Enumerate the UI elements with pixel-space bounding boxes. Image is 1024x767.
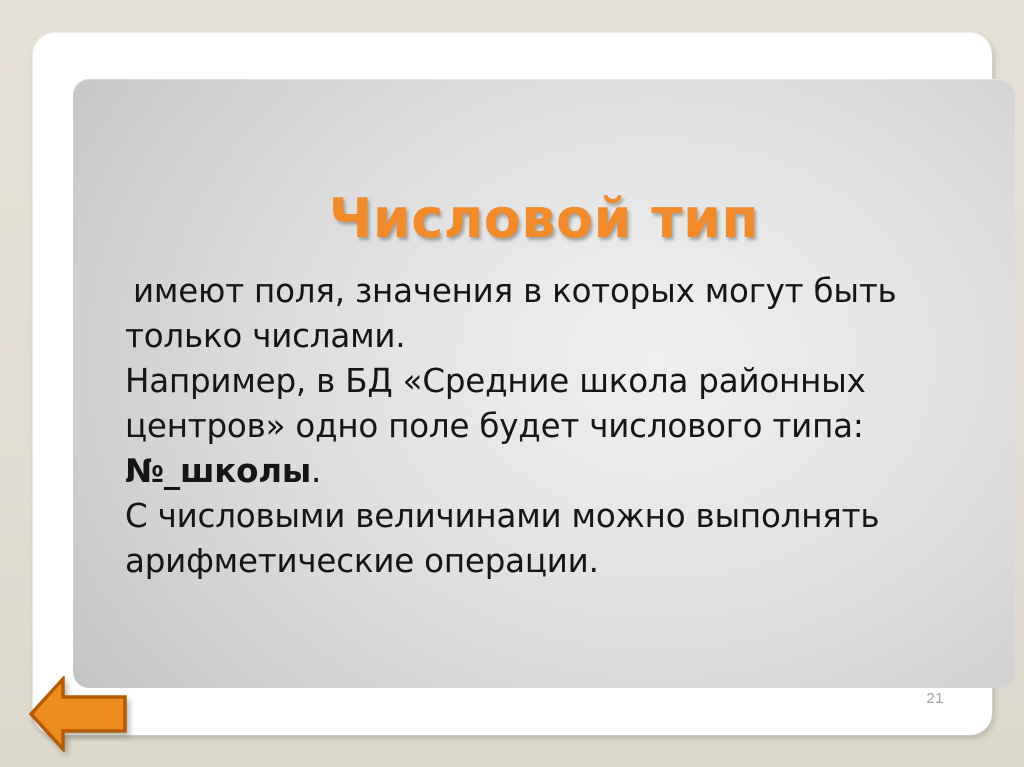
slide-stage: Числовой тип имеют поля, значения в кото…: [0, 0, 1024, 767]
body-paragraph-1: имеют поля, значения в которых могут быт…: [125, 269, 977, 359]
body-paragraph-2: Например, в БД «Средние школа районных ц…: [125, 359, 977, 494]
body-run-2-3: .: [311, 452, 321, 490]
back-navigation-button[interactable]: [29, 676, 127, 752]
page-title: Числовой тип: [73, 187, 1015, 250]
body-run-1-1: имеют поля, значения в которых могут быт…: [125, 272, 897, 355]
slide-content-panel: Числовой тип имеют поля, значения в кото…: [73, 79, 1015, 688]
body-run-3-1: С числовыми величинами можно выполнять а…: [125, 497, 879, 580]
page-number: 21: [926, 690, 944, 707]
body-paragraph-3: С числовыми величинами можно выполнять а…: [125, 494, 977, 584]
slide-body-text: имеют поля, значения в которых могут быт…: [125, 269, 977, 584]
body-run-2-1: Например, в БД «Средние школа районных ц…: [125, 362, 866, 445]
arrow-left-icon: [29, 676, 127, 752]
slide-frame: Числовой тип имеют поля, значения в кото…: [33, 33, 992, 735]
body-run-2-2-emphasis: №_школы: [125, 452, 311, 490]
